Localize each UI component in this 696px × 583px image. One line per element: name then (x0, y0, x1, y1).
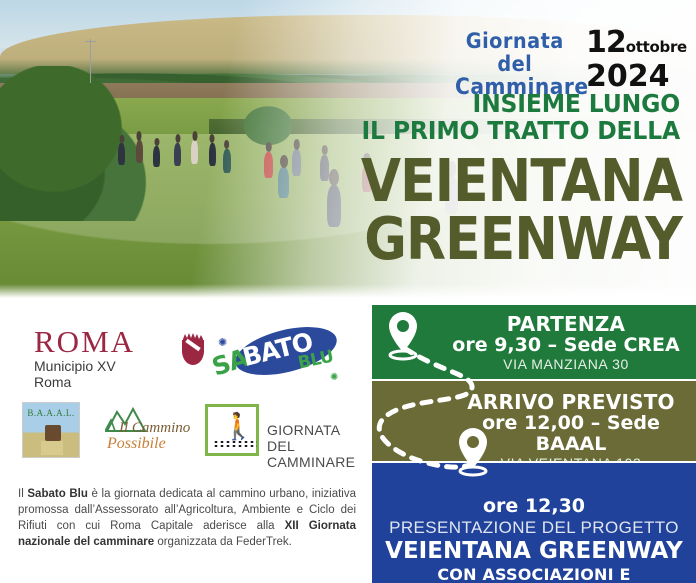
headline-small-line-1: INSIEME LUNGO (248, 90, 680, 117)
walking-person-icon: 🚶 (222, 413, 254, 439)
logo-sabato-blu: ✺ ✺ SA BATO BLU (206, 320, 346, 390)
cammino-line-2: Possibile (107, 435, 166, 453)
headline-big-line-1: VEIENTANA (242, 152, 682, 210)
gdc-logo-text: GIORNATA DEL CAMMINARE (267, 422, 365, 470)
logo-cammino-possibile: Il Cammino Possibile (103, 404, 195, 456)
presentation-time: ore 12,30 (382, 495, 686, 517)
gdc-logo-line-2: CAMMINARE (267, 454, 365, 470)
arrival-title: ARRIVO PREVISTO (450, 391, 692, 413)
gdc-frame: 🚶 (205, 404, 259, 456)
event-date: 12ottobre 2024 (586, 28, 696, 92)
logo-giornata-camminare: 🚶 GIORNATA DEL CAMMINARE FederTrek Escur… (205, 398, 365, 460)
baaal-path (41, 441, 63, 455)
departure-text: PARTENZA ore 9,30 – Sede CREA VIA MANZIA… (372, 305, 696, 373)
blurb-p3: organizzata da FederTrek. (154, 536, 292, 548)
date-month: ottobre (626, 38, 687, 56)
panel-departure: PARTENZA ore 9,30 – Sede CREA VIA MANZIA… (372, 305, 696, 379)
butterfly-icon: ✺ (330, 372, 338, 383)
headline-big: VEIENTANA GREENWAY (242, 152, 682, 268)
baaal-label: B.A.A.A.L. (23, 408, 79, 418)
headline-small-line-2: IL PRIMO TRATTO DELLA (248, 117, 680, 144)
arrival-address: VIA VEIENTANA 103 (450, 455, 692, 461)
blurb-p1: Il (18, 488, 27, 500)
roma-wordmark: ROMA (34, 326, 194, 358)
roma-crest-icon (180, 332, 206, 366)
panel-arrival: ARRIVO PREVISTO ore 12,00 – Sede BAAAL V… (372, 381, 696, 461)
blurb-b1: Sabato Blu (27, 488, 88, 500)
presentation-line-3: CON ASSOCIAZIONI E ISTITUZIONI (382, 565, 686, 583)
presentation-text: ore 12,30 PRESENTAZIONE DEL PROGETTO VEI… (372, 463, 696, 583)
date-year: 2024 (586, 62, 696, 92)
roma-sub-line-2: Roma (34, 374, 194, 390)
baaal-hut-icon (45, 425, 61, 441)
logo-row-partners: B.A.A.A.L. Il Cammino Possibile 🚶 GIO (0, 398, 372, 468)
arrival-text: ARRIVO PREVISTO ore 12,00 – Sede BAAAL V… (372, 381, 696, 461)
badge-line-1: Giornata del (455, 30, 575, 76)
logo-row-primary: ROMA Municipio XV Roma ✺ ✺ SA BATO BLU (0, 312, 372, 394)
headline-small: INSIEME LUNGO IL PRIMO TRATTO DELLA (248, 90, 680, 144)
presentation-line-2: VEIENTANA GREENWAY (382, 538, 686, 565)
photo-bottom-fade (0, 284, 696, 298)
footprint-dots-icon (213, 440, 257, 448)
logo-roma-municipio: ROMA Municipio XV Roma (34, 326, 194, 390)
gdc-logo-line-1: GIORNATA DEL (267, 422, 365, 454)
departure-title: PARTENZA (442, 313, 690, 335)
presentation-line-1: PRESENTAZIONE DEL PROGETTO (382, 517, 686, 538)
headline-big-line-2: GREENWAY (242, 210, 682, 268)
description-paragraph: Il Sabato Blu è la giornata dedicata al … (18, 486, 356, 550)
poster: Giornata del Camminare 12ottobre 2024 IN… (0, 0, 696, 583)
butterfly-icon: ✺ (218, 336, 227, 349)
logo-baaal: B.A.A.A.L. (22, 402, 80, 458)
departure-address: VIA MANZIANA 30 (442, 356, 690, 373)
logos-section: ROMA Municipio XV Roma ✺ ✺ SA BATO BLU (0, 298, 372, 583)
roma-sub-line-1: Municipio XV (34, 358, 194, 374)
departure-subtitle: ore 9,30 – Sede CREA (442, 335, 690, 356)
hero-section: Giornata del Camminare 12ottobre 2024 IN… (0, 0, 696, 298)
arrival-subtitle: ore 12,00 – Sede BAAAL (450, 413, 692, 455)
date-day: 12 (586, 25, 626, 60)
panel-presentation: ore 12,30 PRESENTAZIONE DEL PROGETTO VEI… (372, 463, 696, 583)
